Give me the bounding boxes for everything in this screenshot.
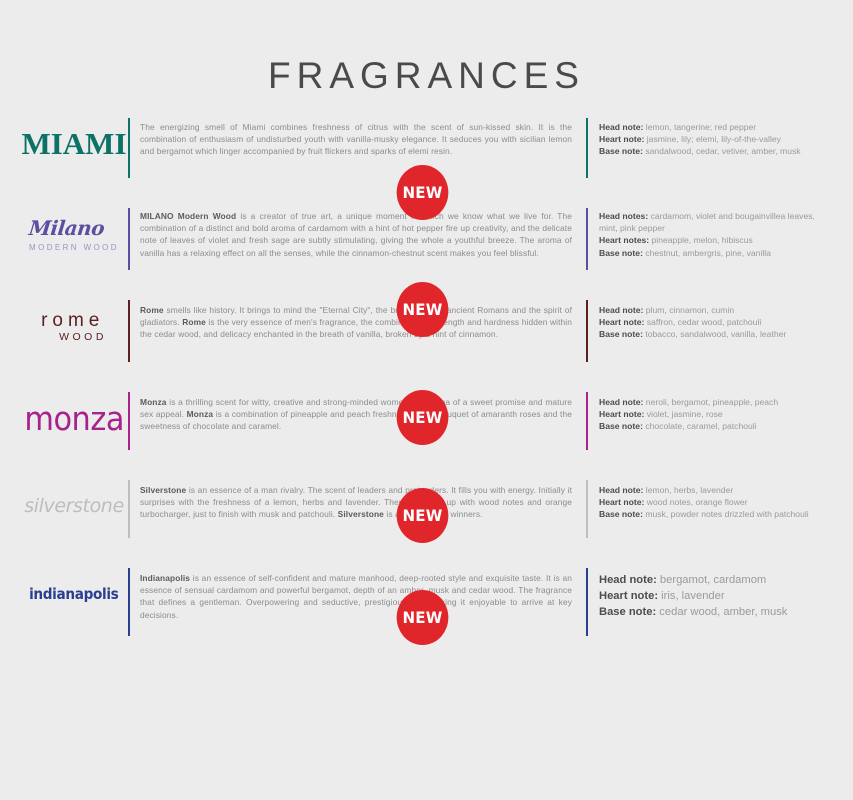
note-value: lemon, tangerine; red pepper (643, 122, 756, 132)
note-line: Base note: chocolate, caramel, patchouli (599, 420, 831, 432)
fragrances-page: FRAGRANCES MIAMIThe energizing smell of … (0, 0, 853, 800)
new-badge[interactable]: NEW (397, 282, 449, 337)
note-line: Head note: lemon, herbs, lavender (599, 484, 831, 496)
new-badge[interactable]: NEW (397, 165, 449, 220)
note-value: plum, cinnamon, cumin (643, 305, 734, 315)
new-badge[interactable]: NEW (397, 488, 449, 543)
note-label: Base note: (599, 248, 643, 258)
note-value: bergamot, cardamom (657, 574, 766, 586)
note-label: Heart note: (599, 317, 644, 327)
note-label: Heart note: (599, 134, 644, 144)
description-cell: Monza is a thrilling scent for witty, cr… (130, 392, 586, 433)
notes-cell: Head note: lemon, tangerine; red pepperH… (588, 118, 831, 158)
brand-logo-miami[interactable]: MIAMI (20, 118, 128, 170)
brand-logo-milano[interactable]: MilanoMODERN WOOD (20, 208, 128, 260)
brand-logo-monza[interactable]: monza (20, 392, 128, 444)
note-label: Head notes: (599, 211, 648, 221)
note-value: chocolate, caramel, patchouli (643, 421, 757, 431)
note-line: Heart note: jasmine, lily; elemi, lily-o… (599, 133, 831, 145)
note-value: musk, powder notes drizzled with patchou… (643, 509, 809, 519)
note-value: tobacco, sandalwood, vanilla, leather (643, 329, 786, 339)
notes-cell: Head note: neroli, bergamot, pineapple, … (588, 392, 831, 433)
note-value: sandalwood, cedar, vetiver, amber, musk (643, 146, 801, 156)
note-label: Heart note: (599, 590, 658, 602)
note-label: Base note: (599, 509, 643, 519)
fragrance-notes: Head note: lemon, tangerine; red pepperH… (599, 121, 831, 158)
fragrance-notes: Head note: bergamot, cardamomHeart note:… (599, 572, 831, 621)
fragrance-description: Indianapolis is an essence of self-confi… (140, 572, 572, 621)
fragrance-notes: Head notes: cardamom, violet and bougain… (599, 210, 831, 259)
notes-cell: Head note: bergamot, cardamomHeart note:… (588, 568, 831, 621)
note-label: Base note: (599, 146, 643, 156)
description-cell: Indianapolis is an essence of self-confi… (130, 568, 586, 621)
note-label: Head note: (599, 122, 643, 132)
description-cell: Rome smells like history. It brings to m… (130, 300, 586, 341)
note-label: Base note: (599, 606, 656, 618)
note-label: Heart note: (599, 497, 644, 507)
note-line: Heart note: violet, jasmine, rose (599, 408, 831, 420)
fragrance-description: Rome smells like history. It brings to m… (140, 304, 572, 341)
fragrance-description: The energizing smell of Miami combines f… (140, 121, 572, 158)
note-label: Head note: (599, 397, 643, 407)
note-value: violet, jasmine, rose (644, 409, 722, 419)
note-value: saffron, cedar wood, patchouli (644, 317, 761, 327)
note-line: Heart notes: pineapple, melon, hibiscus (599, 234, 831, 246)
notes-cell: Head note: plum, cinnamon, cuminHeart no… (588, 300, 831, 341)
note-line: Head notes: cardamom, violet and bougain… (599, 210, 831, 234)
note-line: Head note: neroli, bergamot, pineapple, … (599, 396, 831, 408)
description-cell: Silverstone is an essence of a man rival… (130, 480, 586, 521)
note-line: Heart note: saffron, cedar wood, patchou… (599, 316, 831, 328)
note-value: neroli, bergamot, pineapple, peach (643, 397, 778, 407)
note-line: Heart note: wood notes, orange flower (599, 496, 831, 508)
note-line: Base note: chestnut, ambergris, pine, va… (599, 247, 831, 259)
fragrance-notes: Head note: lemon, herbs, lavenderHeart n… (599, 484, 831, 521)
note-value: wood notes, orange flower (644, 497, 747, 507)
note-line: Base note: sandalwood, cedar, vetiver, a… (599, 145, 831, 157)
description-cell: The energizing smell of Miami combines f… (130, 118, 586, 158)
note-line: Heart note: iris, lavender (599, 588, 831, 604)
note-line: Head note: plum, cinnamon, cumin (599, 304, 831, 316)
note-label: Head note: (599, 574, 657, 586)
brand-logo-silverstone[interactable]: silverstone (20, 480, 128, 532)
brand-logo-indianapolis[interactable]: indianapolis (20, 568, 128, 620)
note-line: Head note: bergamot, cardamom (599, 572, 831, 588)
note-label: Head note: (599, 485, 643, 495)
notes-cell: Head note: lemon, herbs, lavenderHeart n… (588, 480, 831, 521)
note-line: Base note: musk, powder notes drizzled w… (599, 508, 831, 520)
note-line: Base note: tobacco, sandalwood, vanilla,… (599, 328, 831, 340)
note-value: jasmine, lily; elemi, lily-of-the-valley (644, 134, 781, 144)
note-value: cedar wood, amber, musk (656, 606, 787, 618)
note-value: chestnut, ambergris, pine, vanilla (643, 248, 771, 258)
brand-logo-rome[interactable]: romeWOOD (20, 300, 128, 352)
fragrance-notes: Head note: plum, cinnamon, cuminHeart no… (599, 304, 831, 341)
note-line: Base note: cedar wood, amber, musk (599, 604, 831, 620)
note-line: Head note: lemon, tangerine; red pepper (599, 121, 831, 133)
note-label: Heart notes: (599, 235, 649, 245)
note-value: iris, lavender (658, 590, 725, 602)
new-badge[interactable]: NEW (397, 590, 449, 645)
note-label: Base note: (599, 421, 643, 431)
fragrance-description: Monza is a thrilling scent for witty, cr… (140, 396, 572, 433)
note-label: Base note: (599, 329, 643, 339)
fragrance-notes: Head note: neroli, bergamot, pineapple, … (599, 396, 831, 433)
new-badge[interactable]: NEW (397, 390, 449, 445)
notes-cell: Head notes: cardamom, violet and bougain… (588, 208, 831, 259)
fragrance-description: MILANO Modern Wood is a creator of true … (140, 210, 572, 259)
page-title: FRAGRANCES (0, 0, 853, 94)
note-label: Head note: (599, 305, 643, 315)
note-value: lemon, herbs, lavender (643, 485, 733, 495)
description-cell: MILANO Modern Wood is a creator of true … (130, 208, 586, 259)
fragrance-description: Silverstone is an essence of a man rival… (140, 484, 572, 521)
note-label: Heart note: (599, 409, 644, 419)
note-value: pineapple, melon, hibiscus (649, 235, 753, 245)
